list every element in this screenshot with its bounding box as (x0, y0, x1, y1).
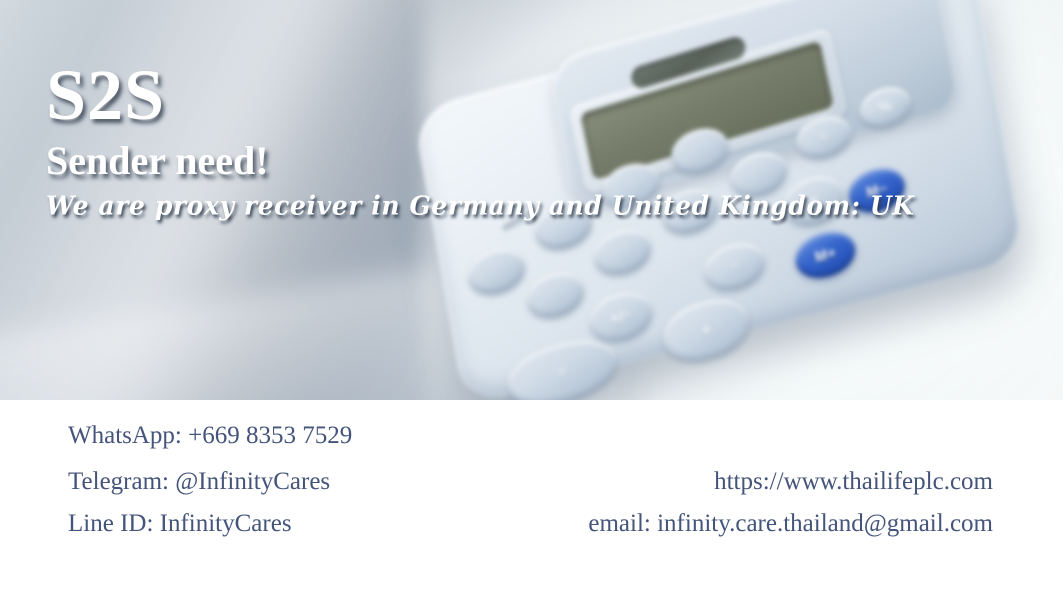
promo-card: ÷%×−+/−+=M−M+ S2S Sender need! We are pr… (0, 0, 1063, 600)
line-id-contact[interactable]: Line ID: InfinityCares (0, 510, 538, 538)
whatsapp-contact[interactable]: WhatsApp: +669 8353 7529 (0, 422, 538, 450)
contact-row: Telegram: @InfinityCares https://www.tha… (0, 468, 1063, 496)
contact-row: Line ID: InfinityCares email: infinity.c… (0, 510, 1063, 538)
contact-row: WhatsApp: +669 8353 7529 (0, 422, 1063, 450)
contact-footer: WhatsApp: +669 8353 7529 Telegram: @Infi… (0, 400, 1063, 600)
hero-text-block: S2S Sender need! We are proxy receiver i… (46, 60, 915, 219)
website-link[interactable]: https://www.thailifeplc.com (538, 468, 1063, 496)
page-subtitle: Sender need! (46, 141, 915, 181)
telegram-contact[interactable]: Telegram: @InfinityCares (0, 468, 538, 496)
page-tagline: We are proxy receiver in Germany and Uni… (46, 192, 915, 220)
hero-photo: ÷%×−+/−+=M−M+ S2S Sender need! We are pr… (0, 0, 1063, 400)
page-title: S2S (46, 60, 915, 131)
email-link[interactable]: email: infinity.care.thailand@gmail.com (538, 510, 1063, 538)
